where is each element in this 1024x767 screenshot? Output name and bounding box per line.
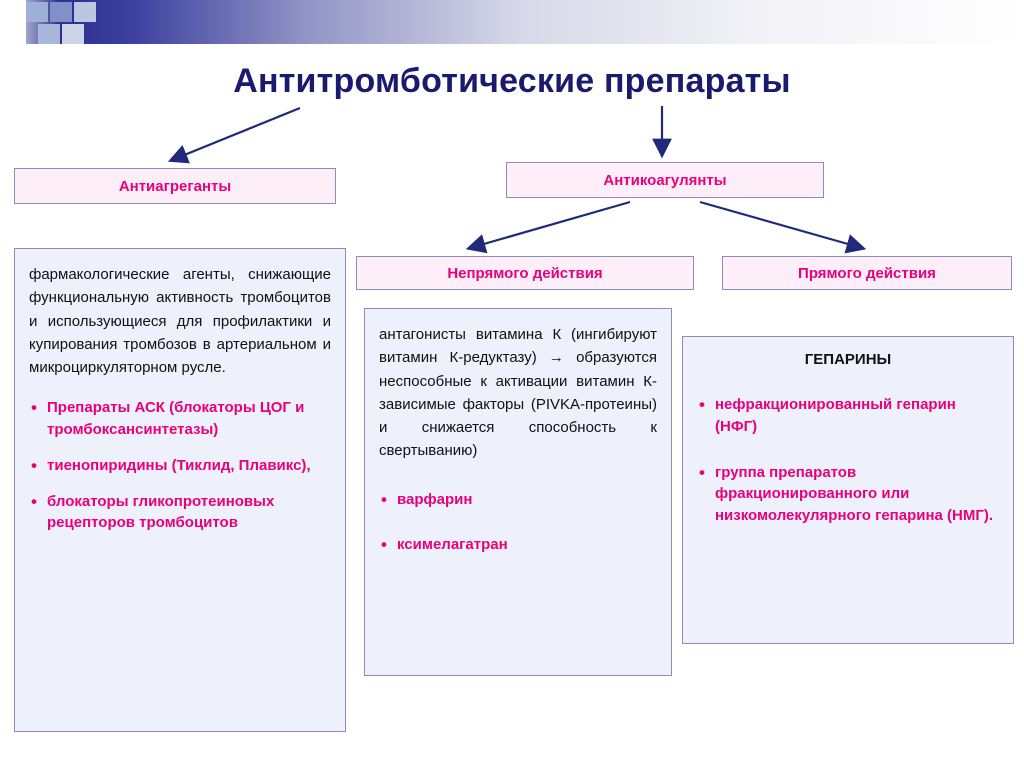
list-item-text: нефракционированный гепарин (НФГ) (715, 396, 956, 435)
indirect-description: антагонисты витамина К (ингибируют витам… (379, 323, 657, 463)
band-left-mask (0, 0, 26, 44)
band-square-1 (26, 2, 48, 22)
node-anticoagulants: Антикоагулянты (506, 162, 824, 198)
panel-indirect-details: антагонисты витамина К (ингибируют витам… (364, 308, 672, 676)
list-item: блокаторы гликопротеиновых рецепторов тр… (29, 491, 331, 535)
panel-antiagregants-details: фармакологические агенты, снижающие функ… (14, 248, 346, 732)
node-anticoagulants-label: Антикоагулянты (603, 172, 726, 189)
band-gradient (0, 0, 1024, 44)
list-item: тиенопиридины (Тиклид, Плавикс), (29, 455, 331, 477)
band-square-5 (62, 24, 84, 44)
node-direct-action-label: Прямого действия (798, 265, 936, 282)
node-direct-action: Прямого действия (722, 256, 1012, 290)
band-square-2 (50, 2, 72, 22)
antiagregants-description: фармакологические агенты, снижающие функ… (29, 263, 331, 379)
panel-direct-details: ГЕПАРИНЫ нефракционированный гепарин (НФ… (682, 336, 1014, 644)
list-item-text: тиенопиридины (Тиклид, Плавикс), (47, 457, 311, 474)
page-title: Антитромботические препараты (0, 62, 1024, 101)
arrow-anticoagulants-to-indirect (470, 202, 630, 248)
indirect-bullet-list: варфарин ксимелагатран (379, 489, 657, 557)
antiagregants-bullet-list: Препараты АСК (блокаторы ЦОГ и тромбокса… (29, 397, 331, 534)
list-item-text: ксимелагатран (397, 536, 508, 553)
node-indirect-action: Непрямого действия (356, 256, 694, 290)
list-item-text: варфарин (397, 491, 472, 508)
list-item: ксимелагатран (379, 534, 657, 556)
node-indirect-action-label: Непрямого действия (447, 265, 602, 282)
band-square-4 (38, 24, 60, 44)
node-antiagregants: Антиагреганты (14, 168, 336, 204)
arrow-anticoagulants-to-direct (700, 202, 862, 248)
node-antiagregants-label: Антиагреганты (119, 178, 231, 195)
heparins-bullet-list: нефракционированный гепарин (НФГ) группа… (697, 394, 999, 527)
heparins-heading: ГЕПАРИНЫ (697, 351, 999, 368)
list-item: Препараты АСК (блокаторы ЦОГ и тромбокса… (29, 397, 331, 441)
list-item-text: Препараты АСК (блокаторы ЦОГ и тромбокса… (47, 399, 304, 438)
list-item: группа препаратов фракционированного или… (697, 462, 999, 527)
list-item-text: блокаторы гликопротеиновых рецепторов тр… (47, 493, 274, 532)
band-square-3 (74, 2, 96, 22)
list-item-text: группа препаратов фракционированного или… (715, 464, 993, 525)
header-decorative-band (0, 0, 1024, 44)
list-item: нефракционированный гепарин (НФГ) (697, 394, 999, 438)
list-item: варфарин (379, 489, 657, 511)
arrow-title-to-antiagregants (172, 108, 300, 160)
